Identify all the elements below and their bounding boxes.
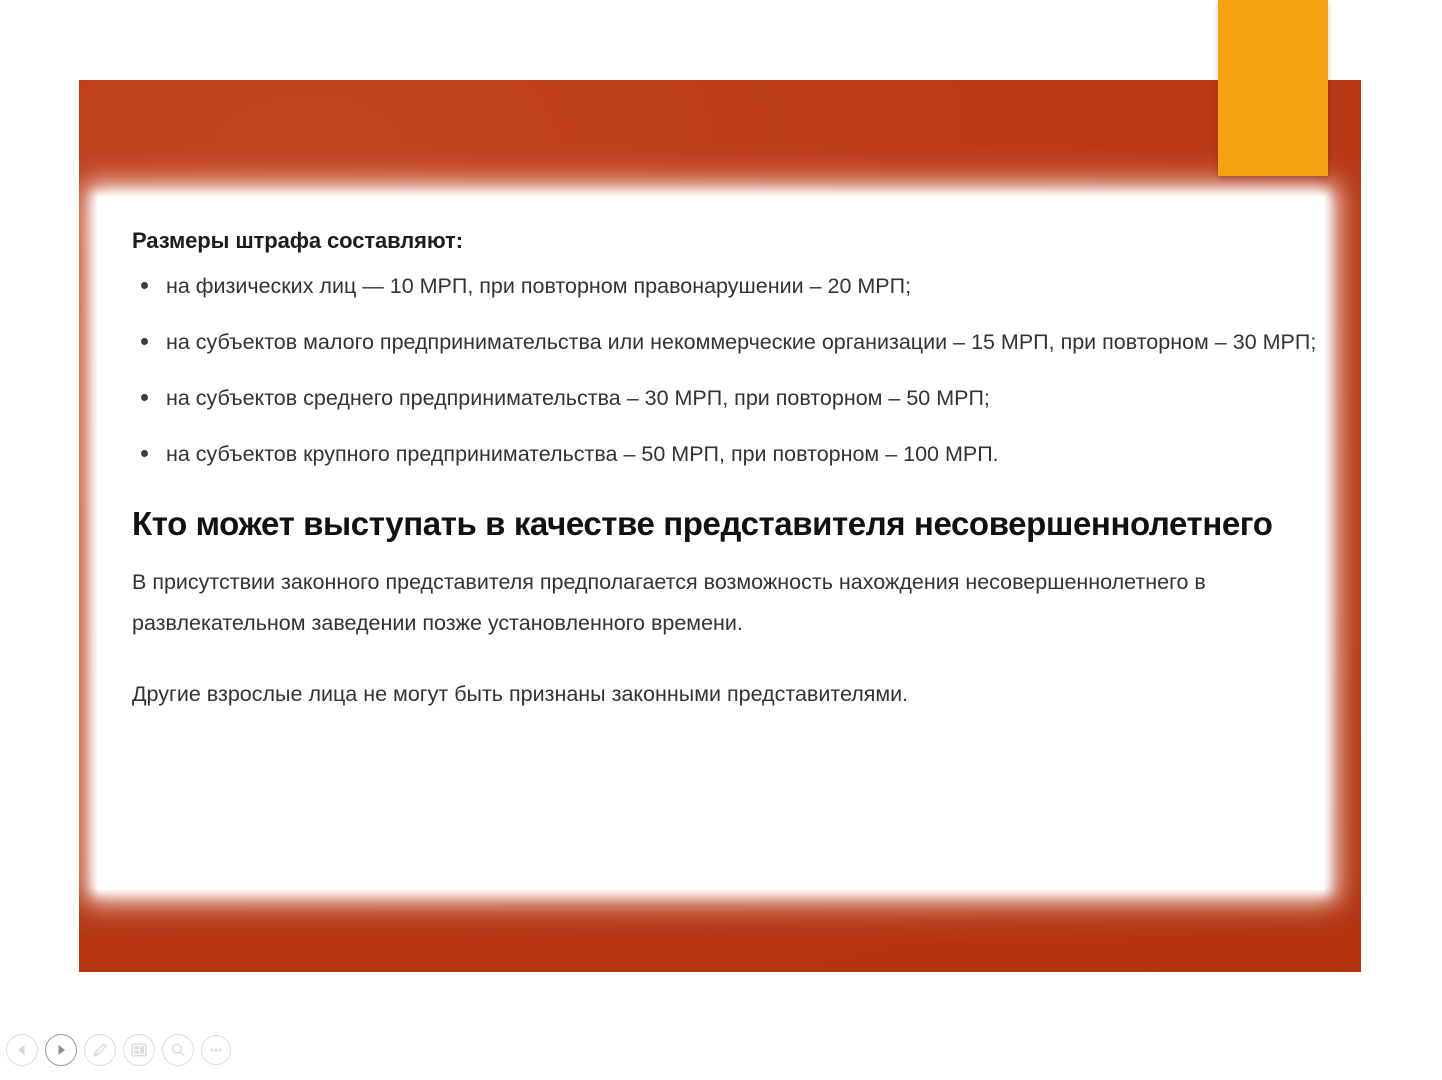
- zoom-tool-button[interactable]: [162, 1034, 194, 1066]
- previous-slide-button[interactable]: [6, 1034, 38, 1066]
- triangle-left-icon: [15, 1043, 29, 1057]
- next-slide-button[interactable]: [45, 1034, 77, 1066]
- presentation-toolbar: [0, 1020, 1442, 1080]
- list-item: на физических лиц — 10 МРП, при повторно…: [132, 264, 1322, 308]
- list-item-text: на субъектов крупного предпринимательств…: [166, 442, 999, 466]
- bullet-dot-icon: [141, 338, 148, 345]
- triangle-right-icon: [54, 1043, 68, 1057]
- pen-tool-button[interactable]: [84, 1034, 116, 1066]
- section-heading: Кто может выступать в качестве представи…: [132, 504, 1322, 544]
- body-paragraph: Другие взрослые лица не могут быть призн…: [132, 674, 1300, 715]
- ellipsis-icon: [207, 1041, 225, 1059]
- list-item: на субъектов среднего предпринимательств…: [132, 376, 1322, 420]
- list-item-text: на физических лиц — 10 МРП, при повторно…: [166, 274, 911, 298]
- bullet-dot-icon: [141, 450, 148, 457]
- lead-heading: Размеры штрафа составляют:: [132, 227, 1322, 256]
- grid-slides-icon: [129, 1040, 149, 1060]
- list-item-text: на субъектов малого предпринимательства …: [166, 330, 1316, 354]
- bullet-dot-icon: [141, 282, 148, 289]
- list-item: на субъектов малого предпринимательства …: [132, 320, 1322, 364]
- card-content: Размеры штрафа составляют: на физических…: [132, 227, 1322, 715]
- all-slides-button[interactable]: [123, 1034, 155, 1066]
- body-paragraph: В присутствии законного представителя пр…: [132, 562, 1300, 644]
- orange-accent-block: [1218, 0, 1328, 176]
- list-item-text: на субъектов среднего предпринимательств…: [166, 386, 990, 410]
- fine-amount-list: на физических лиц — 10 МРП, при повторно…: [132, 264, 1322, 476]
- pen-icon: [90, 1040, 110, 1060]
- slide-white-content-card: Размеры штрафа составляют: на физических…: [100, 199, 1322, 887]
- more-options-button[interactable]: [201, 1035, 231, 1065]
- list-item: на субъектов крупного предпринимательств…: [132, 432, 1322, 476]
- magnifier-icon: [168, 1040, 188, 1060]
- slide-stage: Размеры штрафа составляют: на физических…: [0, 0, 1442, 1020]
- bullet-dot-icon: [141, 394, 148, 401]
